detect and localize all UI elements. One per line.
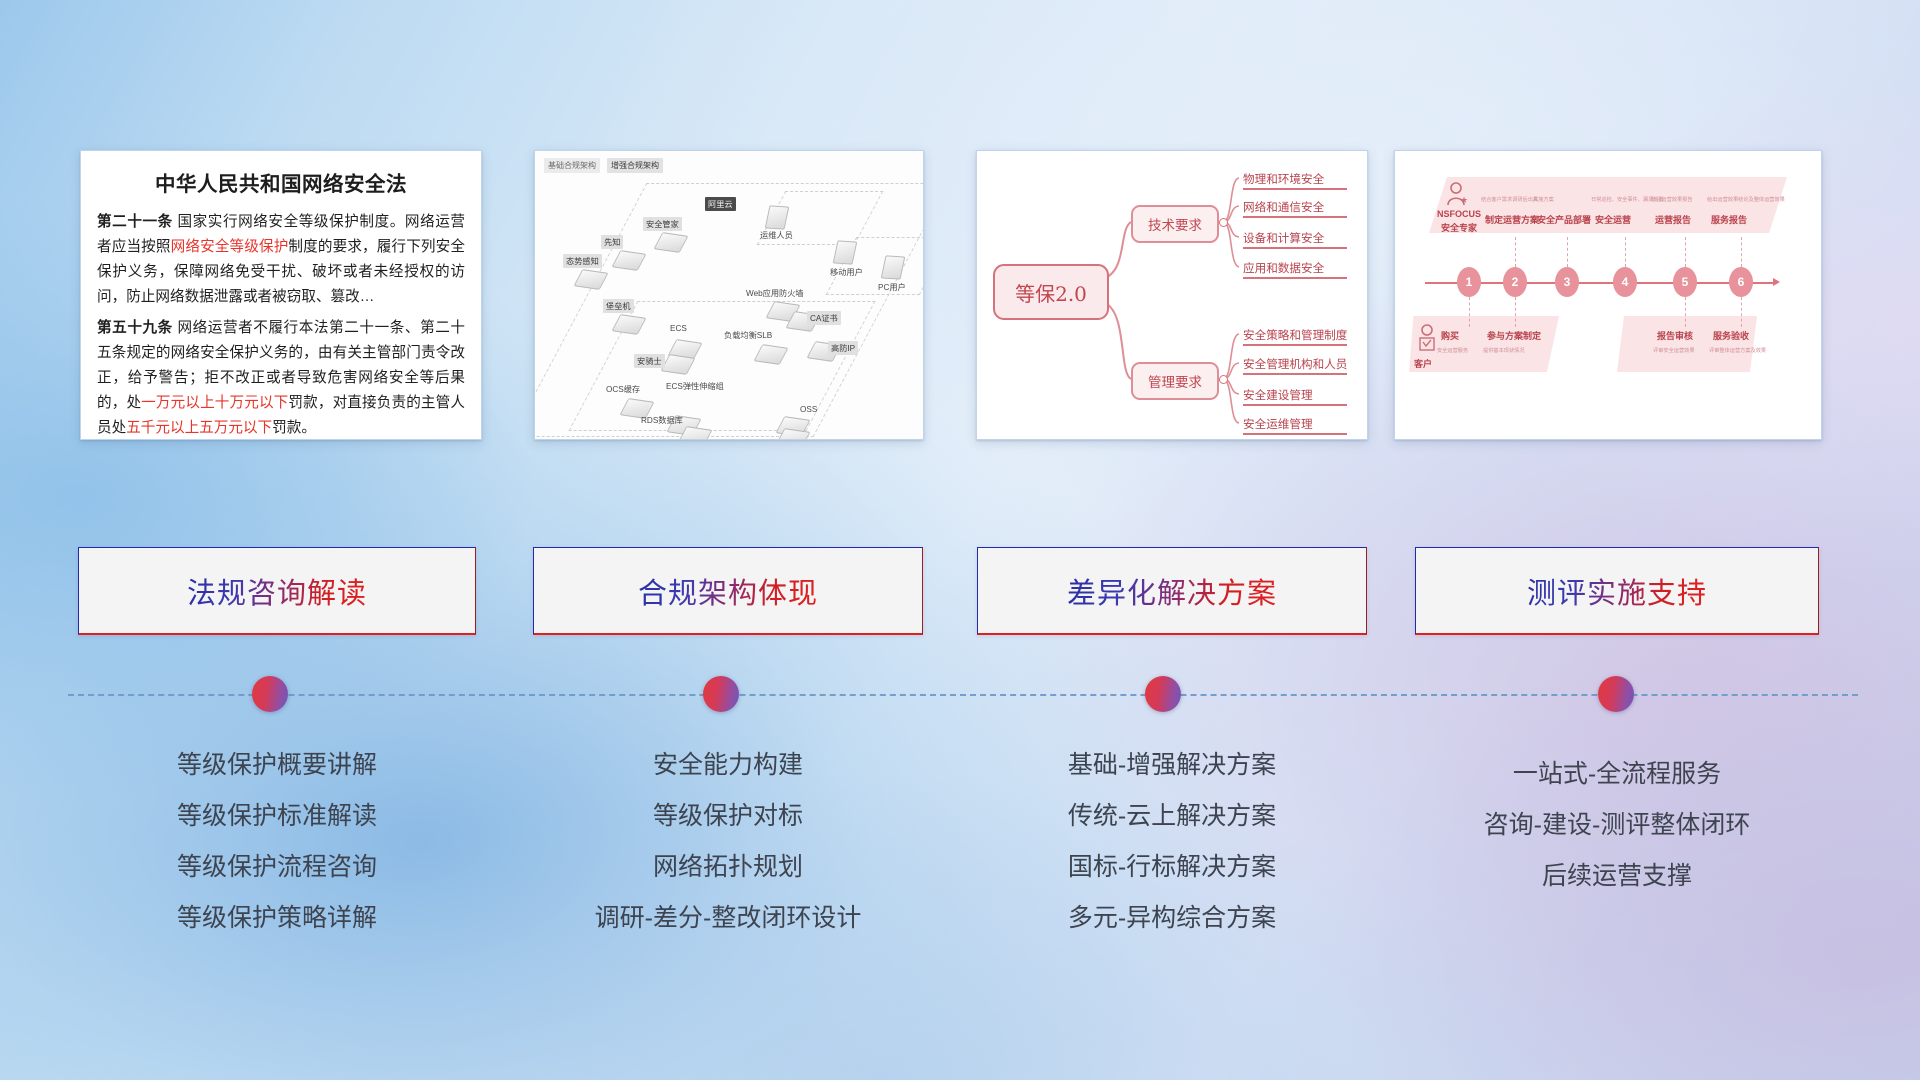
flow-connector bbox=[1625, 237, 1626, 267]
law-card-body: 中华人民共和国网络安全法 第二十一条 国家实行网络安全等级保护制度。网络运营者应… bbox=[81, 151, 481, 439]
headline-label-4: 测评实施支持 bbox=[1527, 570, 1707, 612]
flow-step-subtitle: 结合客户需求调研后出具 bbox=[1481, 196, 1538, 203]
architecture-node-label: RDS数据库 bbox=[638, 413, 686, 427]
flow-step-title: 运营报告 bbox=[1655, 213, 1691, 226]
flow-connector bbox=[1515, 237, 1516, 267]
detail-list-item: 调研-差分-整改闭环设计 bbox=[533, 893, 923, 944]
flow-customer-step-subtitle: 评审整体运营方案及效果 bbox=[1709, 347, 1766, 354]
flow-step-subtitle: 给出运营效果结论及整体运营效果 bbox=[1707, 196, 1785, 203]
flow-step-subtitle: 阶段运营效果报告 bbox=[1651, 196, 1693, 203]
flow-connector bbox=[1685, 297, 1686, 327]
timeline bbox=[0, 665, 1920, 725]
mindmap-leaf: 安全建设管理 bbox=[1243, 387, 1313, 403]
card-service-flow[interactable]: ★ NSFOCUS 安全专家 客户 12制定运营方案结合客户需求调研后出具3安全… bbox=[1394, 150, 1822, 440]
flow-customer-label: 客户 bbox=[1414, 357, 1432, 370]
flow-provider-name: NSFOCUS bbox=[1437, 209, 1481, 219]
flow-customer-step-title: 报告审核 bbox=[1657, 329, 1693, 342]
mindmap-leaf-underline bbox=[1243, 344, 1347, 346]
flow-band-customer-right bbox=[1617, 316, 1757, 372]
service-flow-diagram: ★ NSFOCUS 安全专家 客户 12制定运营方案结合客户需求调研后出具3安全… bbox=[1395, 151, 1821, 439]
card-compliance-architecture[interactable]: 基础合规架构 增强合规架构 阿里云安全管家先知态势感知堡垒机运维人员移动用户PC… bbox=[534, 150, 924, 440]
architecture-node-label: 堡垒机 bbox=[603, 299, 634, 313]
mindmap-leaf-underline bbox=[1243, 247, 1347, 249]
mindmap-leaf: 网络和通信安全 bbox=[1243, 199, 1324, 215]
mindmap-leaf-underline bbox=[1243, 373, 1347, 375]
timeline-dot-2[interactable] bbox=[703, 676, 739, 712]
law-highlight-text: 五千元以上五万元以下 bbox=[126, 420, 272, 436]
mindmap-leaf: 安全策略和管理制度 bbox=[1243, 327, 1347, 343]
headline-box-differentiated-solution[interactable]: 差异化解决方案 bbox=[977, 547, 1367, 635]
headline-label-2: 合规架构体现 bbox=[638, 570, 818, 612]
architecture-node-label: 负载均衡SLB bbox=[721, 328, 775, 342]
mindmap-leaf-underline bbox=[1243, 277, 1347, 279]
mindmap-leaf: 应用和数据安全 bbox=[1243, 260, 1324, 276]
mindmap-leaf-underline bbox=[1243, 404, 1347, 406]
architecture-tab-basic[interactable]: 基础合规架构 bbox=[544, 158, 600, 173]
timeline-dot-1[interactable] bbox=[252, 676, 288, 712]
flow-connector bbox=[1741, 237, 1742, 267]
flow-customer-step-title: 服务验收 bbox=[1713, 329, 1749, 342]
card-cybersecurity-law[interactable]: 中华人民共和国网络安全法 第二十一条 国家实行网络安全等级保护制度。网络运营者应… bbox=[80, 150, 482, 440]
flow-step-title: 安全产品部署 bbox=[1537, 213, 1591, 226]
flow-customer-step-subtitle: 安全运营服务 bbox=[1437, 347, 1468, 354]
mindmap-branch-management: 管理要求 bbox=[1131, 362, 1219, 400]
architecture-node-label: ECS弹性伸缩组 bbox=[663, 379, 727, 393]
architecture-node-label: 安全管家 bbox=[643, 217, 682, 231]
mindmap-root-node: 等保2.0 bbox=[993, 264, 1109, 320]
architecture-node-label: 态势感知 bbox=[563, 254, 602, 268]
flow-step-title: 安全运营 bbox=[1595, 213, 1631, 226]
detail-list-item: 等级保护流程咨询 bbox=[78, 842, 476, 893]
law-highlight-text: 网络安全等级保护 bbox=[171, 239, 289, 255]
law-title: 中华人民共和国网络安全法 bbox=[97, 167, 465, 197]
flow-connector bbox=[1685, 237, 1686, 267]
flow-provider-role: 安全专家 bbox=[1441, 221, 1477, 234]
headline-row: 法规咨询解读 合规架构体现 差异化解决方案 测评实施支持 bbox=[0, 547, 1920, 637]
detail-list-item: 安全能力构建 bbox=[533, 740, 923, 791]
svg-text:★: ★ bbox=[1460, 195, 1468, 205]
mindmap-diagram: 等保2.0 技术要求 管理要求 物理和环境安全网络和通信安全设备和计算安全应用和… bbox=[977, 151, 1367, 439]
architecture-diagram: 基础合规架构 增强合规架构 阿里云安全管家先知态势感知堡垒机运维人员移动用户PC… bbox=[535, 151, 923, 439]
flow-step-title: 服务报告 bbox=[1711, 213, 1747, 226]
flow-connector bbox=[1567, 237, 1568, 267]
flow-step-title: 制定运营方案 bbox=[1485, 213, 1539, 226]
law-article-number: 第五十九条 bbox=[97, 320, 173, 336]
flow-step-node-3[interactable]: 3 bbox=[1555, 267, 1579, 297]
detail-list-item: 基础-增强解决方案 bbox=[977, 740, 1367, 791]
timeline-dot-3[interactable] bbox=[1145, 676, 1181, 712]
law-body-text: 罚款。 bbox=[272, 420, 316, 436]
detail-list-item: 等级保护对标 bbox=[533, 791, 923, 842]
flow-customer-step-title: 购买 bbox=[1441, 329, 1459, 342]
mindmap-leaf-underline bbox=[1243, 188, 1347, 190]
timeline-dot-4[interactable] bbox=[1598, 676, 1634, 712]
detail-list-item: 国标-行标解决方案 bbox=[977, 842, 1367, 893]
mindmap-leaf-underline bbox=[1243, 433, 1347, 435]
law-highlight-text: 一万元以上十万元以下 bbox=[141, 395, 288, 411]
detail-list-3: 基础-增强解决方案传统-云上解决方案国标-行标解决方案多元-异构综合方案 bbox=[977, 740, 1367, 944]
flow-axis-arrow-icon bbox=[1773, 278, 1780, 286]
expert-person-icon: ★ bbox=[1443, 181, 1473, 211]
detail-list-1: 等级保护概要讲解等级保护标准解读等级保护流程咨询等级保护策略详解 bbox=[78, 740, 476, 944]
flow-step-node-6[interactable]: 6 bbox=[1729, 267, 1753, 297]
flow-step-node-5[interactable]: 5 bbox=[1673, 267, 1697, 297]
architecture-node-label: 阿里云 bbox=[705, 197, 736, 211]
detail-list-item: 咨询-建设-测评整体闭环 bbox=[1415, 800, 1819, 851]
detail-list-item: 等级保护概要讲解 bbox=[78, 740, 476, 791]
headline-label-3: 差异化解决方案 bbox=[1067, 570, 1277, 612]
flow-connector bbox=[1469, 297, 1470, 327]
detail-list-item: 网络拓扑规划 bbox=[533, 842, 923, 893]
headline-box-assessment-support[interactable]: 测评实施支持 bbox=[1415, 547, 1819, 635]
architecture-node-label: 先知 bbox=[601, 235, 623, 249]
flow-connector bbox=[1741, 297, 1742, 327]
architecture-node-label: 高防IP bbox=[828, 341, 858, 355]
detail-list-4: 一站式-全流程服务咨询-建设-测评整体闭环后续运营支撑 bbox=[1415, 749, 1819, 902]
detail-list-item: 多元-异构综合方案 bbox=[977, 893, 1367, 944]
detail-list-item: 后续运营支撑 bbox=[1415, 851, 1819, 902]
mindmap-leaf: 安全运维管理 bbox=[1243, 416, 1313, 432]
flow-customer-step-subtitle: 评审安全运营效果 bbox=[1653, 347, 1695, 354]
flow-step-subtitle: 实施方案 bbox=[1533, 196, 1554, 203]
mindmap-leaf: 安全管理机构和人员 bbox=[1243, 356, 1347, 372]
detail-list-item: 等级保护策略详解 bbox=[78, 893, 476, 944]
flow-connector bbox=[1515, 297, 1516, 327]
architecture-node-label: CA证书 bbox=[807, 311, 841, 325]
detail-lists-row: 等级保护概要讲解等级保护标准解读等级保护流程咨询等级保护策略详解 安全能力构建等… bbox=[0, 740, 1920, 990]
timeline-dashed-line bbox=[68, 694, 1858, 696]
reference-cards-row: 中华人民共和国网络安全法 第二十一条 国家实行网络安全等级保护制度。网络运营者应… bbox=[0, 150, 1920, 442]
flow-step-node-2[interactable]: 2 bbox=[1503, 267, 1527, 297]
law-article-2: 第五十九条 网络运营者不履行本法第二十一条、第二十五条规定的网络安全保护义务的，… bbox=[97, 316, 465, 440]
flow-step-node-1[interactable]: 1 bbox=[1457, 267, 1481, 297]
architecture-tabs[interactable]: 基础合规架构 增强合规架构 bbox=[544, 158, 663, 173]
card-dengbao-mindmap[interactable]: 等保2.0 技术要求 管理要求 物理和环境安全网络和通信安全设备和计算安全应用和… bbox=[976, 150, 1368, 440]
law-article-number: 第二十一条 bbox=[97, 214, 173, 230]
architecture-node-label: PC用户 bbox=[875, 280, 909, 294]
flow-customer-step-title: 参与方案制定 bbox=[1487, 329, 1541, 342]
headline-box-regulation-consulting[interactable]: 法规咨询解读 bbox=[78, 547, 476, 635]
detail-list-item: 等级保护标准解读 bbox=[78, 791, 476, 842]
architecture-node-label: 安骑士 bbox=[634, 354, 665, 368]
architecture-tab-enhanced[interactable]: 增强合规架构 bbox=[607, 158, 663, 173]
architecture-node-label: 移动用户 bbox=[827, 265, 866, 279]
architecture-node-label: OSS bbox=[797, 404, 820, 415]
headline-label-1: 法规咨询解读 bbox=[187, 570, 367, 612]
architecture-node-label: Web应用防火墙 bbox=[743, 286, 807, 300]
architecture-node-label: 运维人员 bbox=[757, 228, 796, 242]
headline-box-compliance-architecture[interactable]: 合规架构体现 bbox=[533, 547, 923, 635]
mindmap-leaf: 设备和计算安全 bbox=[1243, 230, 1324, 246]
mindmap-collapse-icon-management[interactable] bbox=[1219, 375, 1228, 384]
detail-list-item: 一站式-全流程服务 bbox=[1415, 749, 1819, 800]
detail-list-2: 安全能力构建等级保护对标网络拓扑规划调研-差分-整改闭环设计 bbox=[533, 740, 923, 944]
mindmap-leaf-underline bbox=[1243, 216, 1347, 218]
mindmap-leaf: 物理和环境安全 bbox=[1243, 171, 1324, 187]
mindmap-collapse-icon-technical[interactable] bbox=[1219, 218, 1228, 227]
law-article-1: 第二十一条 国家实行网络安全等级保护制度。网络运营者应当按照网络安全等级保护制度… bbox=[97, 210, 465, 310]
flow-step-node-4[interactable]: 4 bbox=[1613, 267, 1637, 297]
flow-customer-step-subtitle: 提供基本现状情况 bbox=[1483, 347, 1525, 354]
architecture-node-label: OCS缓存 bbox=[603, 382, 643, 396]
architecture-node-label: ECS bbox=[667, 323, 690, 334]
detail-list-item: 传统-云上解决方案 bbox=[977, 791, 1367, 842]
mindmap-branch-technical: 技术要求 bbox=[1131, 205, 1219, 243]
